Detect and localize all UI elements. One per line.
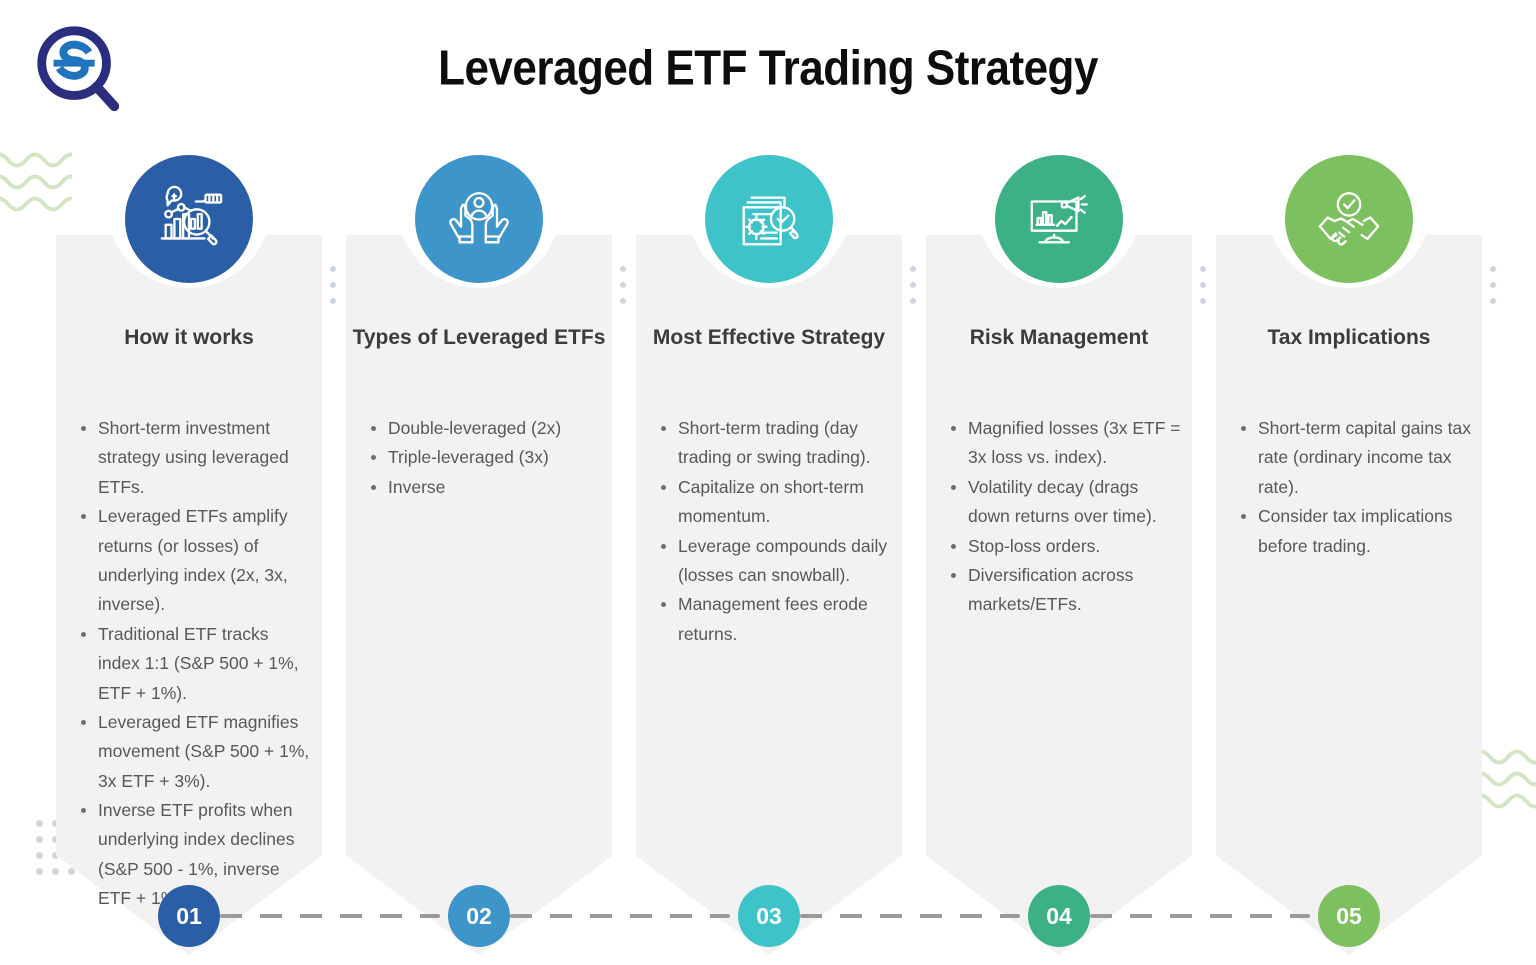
step-badge-1[interactable]: 01 xyxy=(158,885,220,947)
chart-dollar-magnifier-icon xyxy=(125,155,253,283)
column-2-title: Types of Leveraged ETFs xyxy=(352,320,606,356)
column-3-bullets: Short-term trading (day trading or swing… xyxy=(656,414,892,649)
column-2-bullets: Double-leveraged (2x)Triple-leveraged (3… xyxy=(366,414,602,502)
list-item: Short-term trading (day trading or swing… xyxy=(656,414,892,473)
list-item: Consider tax implications before trading… xyxy=(1236,502,1472,561)
column-3-title: Most Effective Strategy xyxy=(642,320,896,356)
step-badge-4[interactable]: 04 xyxy=(1028,885,1090,947)
list-item: Triple-leveraged (3x) xyxy=(366,443,602,472)
column-1-bullets: Short-term investment strategy using lev… xyxy=(76,414,312,914)
list-item: Leverage compounds daily (losses can sno… xyxy=(656,532,892,591)
document-gear-check-icon xyxy=(705,155,833,283)
list-item: Leveraged ETFs amplify returns (or losse… xyxy=(76,502,312,620)
page-title-text: Leveraged ETF Trading Strategy xyxy=(438,41,1098,97)
infographic-canvas: Leveraged ETF Trading Strategy xyxy=(0,0,1536,965)
step-badge-5[interactable]: 05 xyxy=(1318,885,1380,947)
list-item: Stop-loss orders. xyxy=(946,532,1182,561)
dashed-connector-1 xyxy=(220,914,440,918)
list-item: Double-leveraged (2x) xyxy=(366,414,602,443)
step-badge-2[interactable]: 02 xyxy=(448,885,510,947)
list-item: Short-term investment strategy using lev… xyxy=(76,414,312,502)
list-item: Magnified losses (3x ETF = 3x loss vs. i… xyxy=(946,414,1182,473)
column-1-title: How it works xyxy=(62,320,316,356)
hands-holding-person-icon xyxy=(415,155,543,283)
handshake-check-icon xyxy=(1285,155,1413,283)
list-item: Volatility decay (drags down returns ove… xyxy=(946,473,1182,532)
page-title: Leveraged ETF Trading Strategy xyxy=(0,44,1536,94)
column-4-title: Risk Management xyxy=(932,320,1186,356)
column-4-bullets: Magnified losses (3x ETF = 3x loss vs. i… xyxy=(946,414,1182,620)
list-item: Traditional ETF tracks index 1:1 (S&P 50… xyxy=(76,620,312,708)
list-item: Diversification across markets/ETFs. xyxy=(946,561,1182,620)
list-item: Inverse xyxy=(366,473,602,502)
list-item: Management fees erode returns. xyxy=(656,590,892,649)
dashed-connector-2 xyxy=(510,914,730,918)
list-item: Short-term capital gains tax rate (ordin… xyxy=(1236,414,1472,502)
dashed-connector-3 xyxy=(800,914,1020,918)
list-item: Capitalize on short-term momentum. xyxy=(656,473,892,532)
column-5-title: Tax Implications xyxy=(1222,320,1476,356)
column-5-bullets: Short-term capital gains tax rate (ordin… xyxy=(1236,414,1472,561)
columns-container: How it works Short-term investment strat… xyxy=(0,150,1536,940)
step-badge-3[interactable]: 03 xyxy=(738,885,800,947)
list-item: Leveraged ETF magnifies movement (S&P 50… xyxy=(76,708,312,796)
dashed-connector-4 xyxy=(1090,914,1310,918)
monitor-chart-megaphone-icon xyxy=(995,155,1123,283)
